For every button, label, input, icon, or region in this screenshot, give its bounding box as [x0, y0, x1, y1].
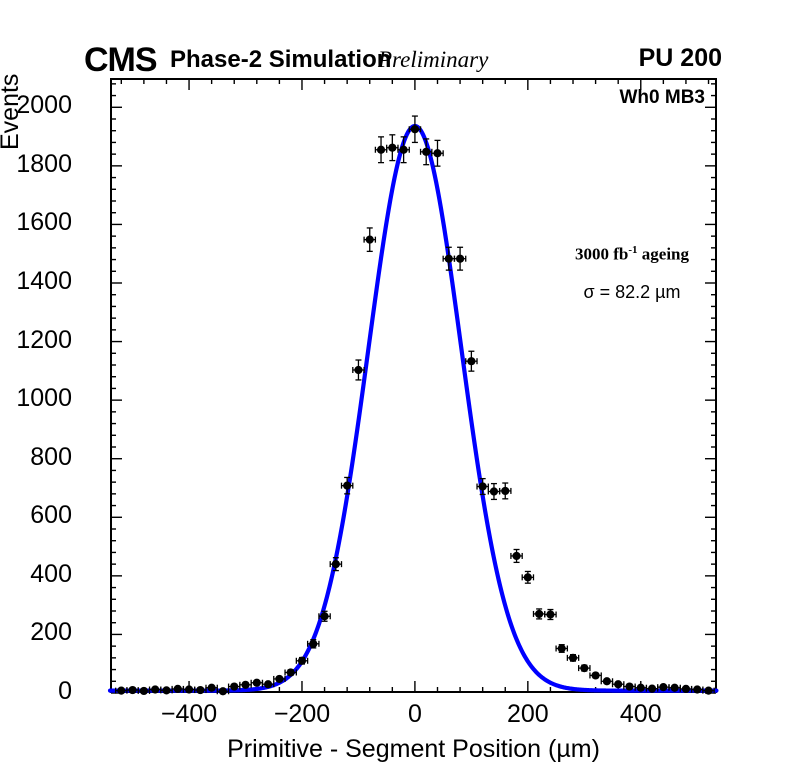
y-tick-label: 0	[58, 677, 72, 706]
data-marker	[603, 677, 611, 685]
x-tick-label: −200	[242, 700, 362, 729]
data-marker	[219, 687, 227, 695]
data-marker	[275, 675, 283, 683]
data-marker	[648, 685, 656, 693]
x-tick-label: 400	[581, 700, 701, 729]
data-marker	[196, 686, 204, 694]
y-tick-label: 1600	[16, 208, 72, 237]
data-marker	[128, 686, 136, 694]
data-marker	[569, 654, 577, 662]
data-marker	[422, 148, 430, 156]
data-marker	[241, 681, 249, 689]
y-tick-label: 1200	[16, 326, 72, 355]
y-tick-label: 1800	[16, 150, 72, 179]
data-marker	[151, 685, 159, 693]
data-marker	[332, 560, 340, 568]
data-marker	[140, 687, 148, 695]
data-marker	[682, 685, 690, 693]
y-tick-label: 600	[30, 501, 72, 530]
data-marker	[411, 125, 419, 133]
y-tick-label: 1000	[16, 384, 72, 413]
fit-curve	[110, 126, 716, 691]
data-marker	[558, 644, 566, 652]
data-marker	[388, 144, 396, 152]
axis-ticks	[111, 79, 716, 693]
y-tick-label: 2000	[16, 91, 72, 120]
x-tick-label: 0	[355, 700, 475, 729]
data-marker	[490, 487, 498, 495]
data-marker	[659, 683, 667, 691]
data-marker	[253, 679, 261, 687]
data-marker	[637, 684, 645, 692]
data-marker	[400, 146, 408, 154]
data-marker	[592, 671, 600, 679]
data-marker	[185, 685, 193, 693]
data-marker	[456, 255, 464, 263]
data-marker	[512, 552, 520, 560]
data-marker	[671, 684, 679, 692]
data-marker	[309, 640, 317, 648]
y-tick-label: 1400	[16, 267, 72, 296]
data-marker	[174, 685, 182, 693]
y-tick-label: 400	[30, 560, 72, 589]
data-marker	[614, 680, 622, 688]
data-marker	[704, 687, 712, 695]
data-marker	[377, 146, 385, 154]
data-marker	[366, 236, 374, 244]
data-marker	[298, 657, 306, 665]
data-marker	[524, 573, 532, 581]
data-marker	[264, 680, 272, 688]
data-marker	[693, 685, 701, 693]
data-marker	[625, 682, 633, 690]
data-marker	[535, 610, 543, 618]
data-marker	[479, 482, 487, 490]
x-tick-label: 200	[468, 700, 588, 729]
y-tick-label: 800	[30, 443, 72, 472]
data-marker	[467, 357, 475, 365]
data-marker	[208, 684, 216, 692]
data-marker	[343, 482, 351, 490]
data-marker	[433, 149, 441, 157]
data-marker	[117, 687, 125, 695]
data-marker	[445, 255, 453, 263]
y-tick-label: 200	[30, 618, 72, 647]
chart-graphics	[0, 0, 796, 772]
data-marker	[546, 610, 554, 618]
data-marker	[230, 682, 238, 690]
data-marker	[501, 487, 509, 495]
data-marker	[580, 664, 588, 672]
data-marker	[354, 366, 362, 374]
data-marker	[287, 668, 295, 676]
data-marker	[162, 686, 170, 694]
data-points	[116, 116, 715, 695]
plot-canvas: CMS Phase-2 Simulation Preliminary PU 20…	[0, 0, 796, 772]
x-tick-label: −400	[129, 700, 249, 729]
data-marker	[320, 612, 328, 620]
